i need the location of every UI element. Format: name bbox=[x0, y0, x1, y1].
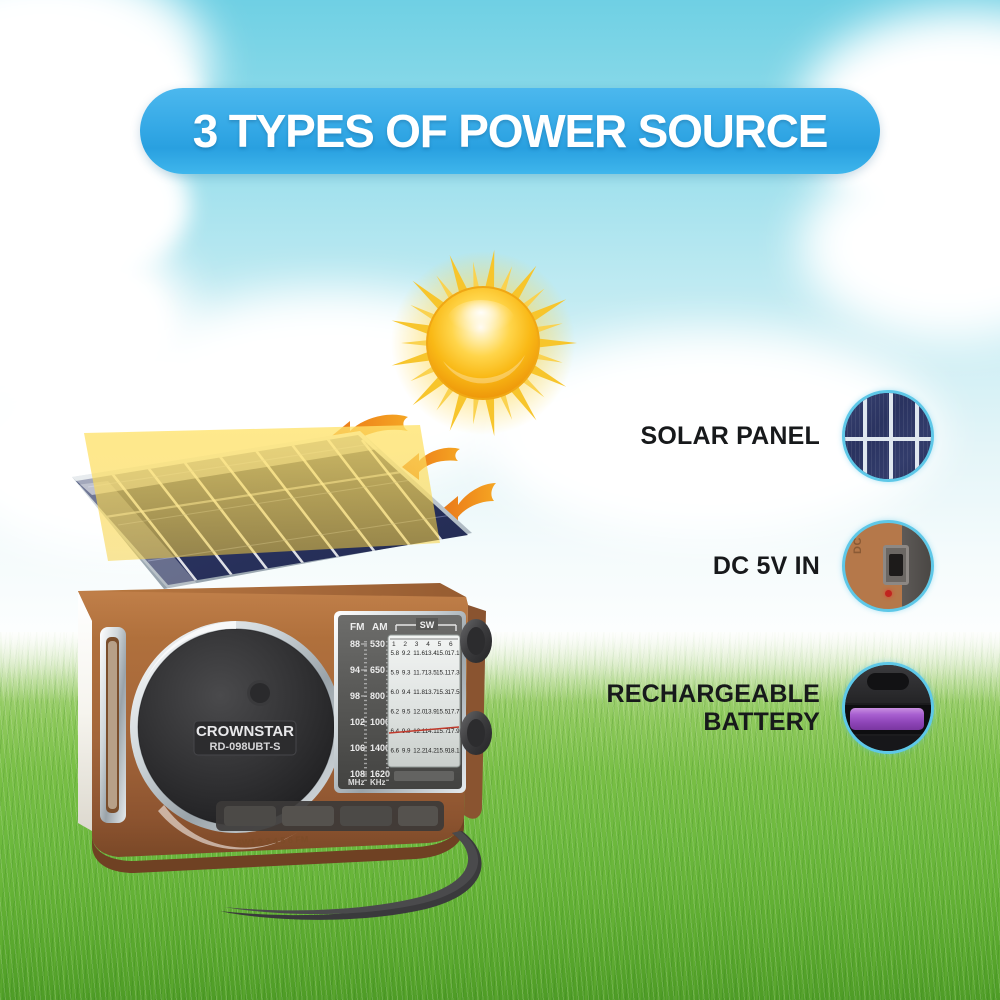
dc-port-thumbnail[interactable]: DC 5V bbox=[842, 520, 934, 612]
feature-label-solar-panel: SOLAR PANEL bbox=[640, 422, 820, 450]
banner-title: 3 TYPES OF POWER SOURCE bbox=[193, 104, 827, 158]
solar-panel-thumbnail[interactable] bbox=[842, 390, 934, 482]
battery-base bbox=[845, 736, 931, 751]
solar-cell-texture bbox=[842, 390, 934, 482]
dial-sw-frequency: 5.8 bbox=[391, 650, 400, 657]
dial-sw-frequency: 9.3 bbox=[402, 670, 411, 677]
charging-led-indicator bbox=[885, 590, 892, 597]
dial-am-tick: 650 bbox=[370, 665, 385, 675]
micro-usb-port-icon bbox=[883, 545, 909, 585]
brand-name: CROWNSTAR bbox=[196, 723, 294, 740]
solar-busbar-horizontal bbox=[842, 437, 934, 441]
tuning-dial: FM AM 889498102106108 530650800100014001… bbox=[334, 611, 466, 793]
feature-label-dc-5v-in: DC 5V IN bbox=[713, 552, 820, 580]
battery-thumbnail[interactable] bbox=[842, 662, 934, 754]
dial-sw-frequency: 17.5 bbox=[448, 689, 461, 696]
dial-sw-frequency: 5.9 bbox=[391, 670, 400, 677]
dial-sw-frequency: 6.0 bbox=[391, 689, 400, 696]
dial-sw-frequency: 11.6 bbox=[413, 650, 425, 657]
battery-cover-latch bbox=[867, 673, 908, 690]
feature-label-rechargeable-battery: RECHARGEABLE BATTERY bbox=[606, 680, 820, 737]
solar-busbar-vertical-3 bbox=[915, 390, 919, 482]
dial-sw-column-label: 2 bbox=[403, 641, 407, 648]
brand-badge: CROWNSTAR RD-098UBT-S bbox=[194, 721, 296, 755]
feature-rechargeable-battery: RECHARGEABLE BATTERY bbox=[560, 656, 934, 760]
solar-busbar-vertical-2 bbox=[889, 390, 893, 482]
dial-sw-frequency: 11.7 bbox=[413, 670, 425, 677]
dial-am-unit: KHz bbox=[370, 778, 386, 787]
dial-fm-unit: MHz bbox=[348, 778, 364, 787]
dial-sw-frequency: 17.3 bbox=[448, 670, 461, 677]
dial-sw-frequency: 9.5 bbox=[402, 709, 411, 716]
dial-am-tick: 800 bbox=[370, 691, 385, 701]
dial-sw-column-label: 1 bbox=[392, 641, 396, 648]
dial-sw-frequency: 9.2 bbox=[402, 650, 411, 657]
dial-sw-frequency: 17.9 bbox=[448, 728, 461, 735]
radio-product-photo: CROWNSTAR RD-098UBT-S FM AM 889498102106… bbox=[48, 415, 548, 925]
model-number: RD-098UBT-S bbox=[210, 741, 281, 753]
dial-sw-frequency: 9.4 bbox=[402, 689, 411, 696]
solar-panel-lid bbox=[72, 425, 472, 589]
dial-sw-frequency: 17.1 bbox=[448, 650, 461, 657]
dial-sw-frequency: 6.6 bbox=[391, 748, 400, 755]
feature-label-line-1: RECHARGEABLE bbox=[606, 680, 820, 708]
dial-sw-column-label: 3 bbox=[415, 641, 419, 648]
dial-fm-tick: 88 bbox=[350, 639, 360, 649]
dial-sw-column-label: 5 bbox=[438, 641, 442, 648]
solar-busbar-vertical-1 bbox=[863, 390, 867, 482]
dial-sw-column-label: 6 bbox=[449, 641, 453, 648]
dial-sw-frequency: 17.7 bbox=[448, 709, 461, 716]
feature-label-line-2: BATTERY bbox=[606, 708, 820, 736]
dial-sw-frequency: 9.9 bbox=[402, 748, 411, 755]
dial-am-tick: 530 bbox=[370, 639, 385, 649]
battery-cell-18650 bbox=[850, 708, 924, 730]
title-banner: 3 TYPES OF POWER SOURCE bbox=[140, 88, 880, 174]
dial-sw-frequency: 11.8 bbox=[413, 689, 425, 696]
dial-sw-label: SW bbox=[420, 620, 435, 630]
cloud-right-3 bbox=[800, 150, 1000, 340]
feature-solar-panel: SOLAR PANEL bbox=[594, 386, 934, 486]
dial-fm-tick: 98 bbox=[350, 691, 360, 701]
feature-dc-5v-in: DC 5V IN DC 5V bbox=[594, 516, 934, 616]
dial-fm-tick: 94 bbox=[350, 665, 360, 675]
dial-sw-frequency: 18.1 bbox=[448, 748, 461, 755]
dial-fm-label: FM bbox=[350, 622, 364, 633]
dial-sw-column-label: 4 bbox=[426, 641, 430, 648]
dial-sw-frequency: 6.2 bbox=[391, 709, 400, 716]
infographic-canvas: 3 TYPES OF POWER SOURCE bbox=[0, 0, 1000, 1000]
dial-am-label: AM bbox=[372, 622, 388, 633]
sunlight-beam-overlay bbox=[84, 425, 440, 561]
dc-port-legend: DC 5V bbox=[852, 520, 864, 554]
